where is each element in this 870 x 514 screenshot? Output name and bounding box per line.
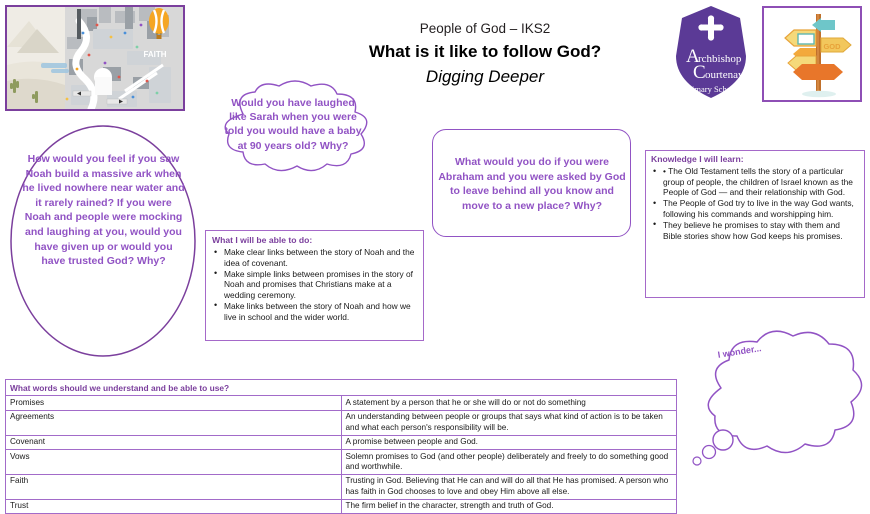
vocabulary-table: What words should we understand and be a… bbox=[5, 379, 677, 514]
school-crest-logo: A rchbishop C ourtenay Primary School bbox=[668, 4, 754, 100]
cityscape-illustration: FAITH bbox=[5, 5, 185, 111]
list-item: Make clear links between the story of No… bbox=[212, 247, 417, 268]
vocabulary-heading: What words should we understand and be a… bbox=[6, 380, 677, 396]
knowledge-list: • The Old Testament tells the story of a… bbox=[651, 166, 858, 241]
definition-cell: The firm belief in the character, streng… bbox=[341, 499, 677, 513]
page-title: What is it like to follow God? bbox=[300, 40, 670, 64]
list-item: The People of God try to live in the way… bbox=[651, 198, 858, 219]
knowledge-heading: Knowledge I will learn: bbox=[651, 154, 858, 165]
definition-cell: A promise between people and God. bbox=[341, 435, 677, 449]
i-wonder-thought-cloud bbox=[685, 330, 870, 480]
definition-cell: An understanding between people or group… bbox=[341, 410, 677, 435]
table-row: Promises A statement by a person that he… bbox=[6, 396, 677, 410]
page-subtitle: Digging Deeper bbox=[300, 65, 670, 89]
list-item: • The Old Testament tells the story of a… bbox=[651, 166, 858, 198]
able-to-do-list: Make clear links between the story of No… bbox=[212, 247, 417, 322]
list-item: Make simple links between promises in th… bbox=[212, 269, 417, 301]
table-header-row: What words should we understand and be a… bbox=[6, 380, 677, 396]
svg-text:FAITH: FAITH bbox=[143, 50, 166, 59]
table-row: Trust The firm belief in the character, … bbox=[6, 499, 677, 513]
able-to-do-heading: What I will be able to do: bbox=[212, 235, 417, 246]
page-title-block: People of God – IKS2 What is it like to … bbox=[300, 20, 670, 89]
abraham-question-text: What would you do if you were Abraham an… bbox=[438, 155, 626, 213]
signpost-illustration: GOD bbox=[762, 6, 862, 102]
vocabulary-table-wrapper: What words should we understand and be a… bbox=[5, 379, 677, 514]
able-to-do-box: What I will be able to do: Make clear li… bbox=[205, 230, 424, 341]
term-cell: Trust bbox=[6, 499, 342, 513]
subject-line: People of God – IKS2 bbox=[300, 20, 670, 38]
table-row: Vows Solemn promises to God (and other p… bbox=[6, 450, 677, 475]
table-row: Covenant A promise between people and Go… bbox=[6, 435, 677, 449]
term-cell: Promises bbox=[6, 396, 342, 410]
noah-question-text: How would you feel if you saw Noah build… bbox=[22, 152, 185, 269]
definition-cell: A statement by a person that he or she w… bbox=[341, 396, 677, 410]
knowledge-box: Knowledge I will learn: • The Old Testam… bbox=[645, 150, 865, 298]
crest-line3: Primary School bbox=[684, 84, 738, 94]
list-item: Make links between the story of Noah and… bbox=[212, 301, 417, 322]
crest-initial-c: C bbox=[693, 62, 706, 83]
crest-line2: ourtenay bbox=[705, 69, 744, 81]
term-cell: Vows bbox=[6, 450, 342, 475]
term-cell: Covenant bbox=[6, 435, 342, 449]
signpost-god-label: GOD bbox=[823, 42, 841, 51]
term-cell: Agreements bbox=[6, 410, 342, 435]
list-item: They believe he promises to stay with th… bbox=[651, 220, 858, 241]
table-row: Agreements An understanding between peop… bbox=[6, 410, 677, 435]
definition-cell: Solemn promises to God (and other people… bbox=[341, 450, 677, 475]
sarah-question-text: Would you have laughed like Sarah when y… bbox=[222, 96, 364, 153]
